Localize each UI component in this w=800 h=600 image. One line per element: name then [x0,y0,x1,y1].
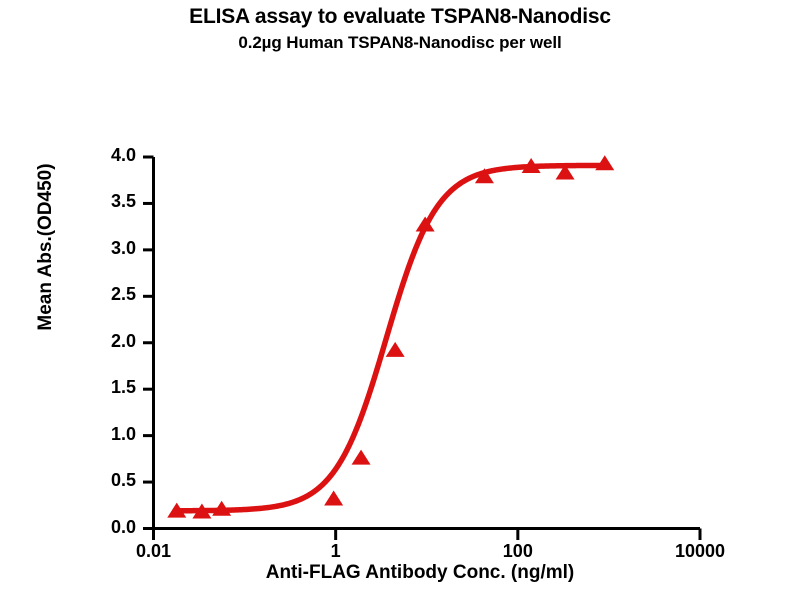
data-point-marker [324,491,343,506]
x-axis-tick-label: 1 [291,541,381,562]
y-axis-tick-label: 0.0 [76,517,136,538]
y-axis-tick-label: 0.5 [76,470,136,491]
x-axis-tick-label: 10000 [655,541,745,562]
y-axis-tick-label: 2.0 [76,331,136,352]
data-marker-layer [167,155,614,518]
x-axis-ticks [154,529,701,541]
y-axis-tick-label: 3.5 [76,191,136,212]
data-point-marker [386,342,405,357]
chart-title: ELISA assay to evaluate TSPAN8-Nanodisc [0,4,800,30]
y-axis-tick-label: 2.5 [76,284,136,305]
x-axis-title: Anti-FLAG Antibody Conc. (ng/ml) [120,562,720,584]
y-axis-title: Mean Abs.(OD450) [35,97,57,397]
data-point-marker [352,450,371,465]
y-axis-tick-label: 1.5 [76,377,136,398]
x-axis-tick-label: 100 [473,541,563,562]
y-axis-tick-label: 1.0 [76,424,136,445]
x-axis-tick-label: 0.01 [109,541,199,562]
axis-lines [152,157,700,529]
y-axis-ticks [143,157,154,529]
fit-curve-layer [177,165,605,510]
y-axis-tick-label: 4.0 [76,145,136,166]
y-axis-tick-label: 3.0 [76,238,136,259]
fit-curve [177,165,605,510]
chart-title-block: ELISA assay to evaluate TSPAN8-Nanodisc … [0,4,800,54]
elisa-assay-chart-figure: ELISA assay to evaluate TSPAN8-Nanodisc … [0,0,800,600]
chart-subtitle: 0.2µg Human TSPAN8-Nanodisc per well [0,31,800,54]
